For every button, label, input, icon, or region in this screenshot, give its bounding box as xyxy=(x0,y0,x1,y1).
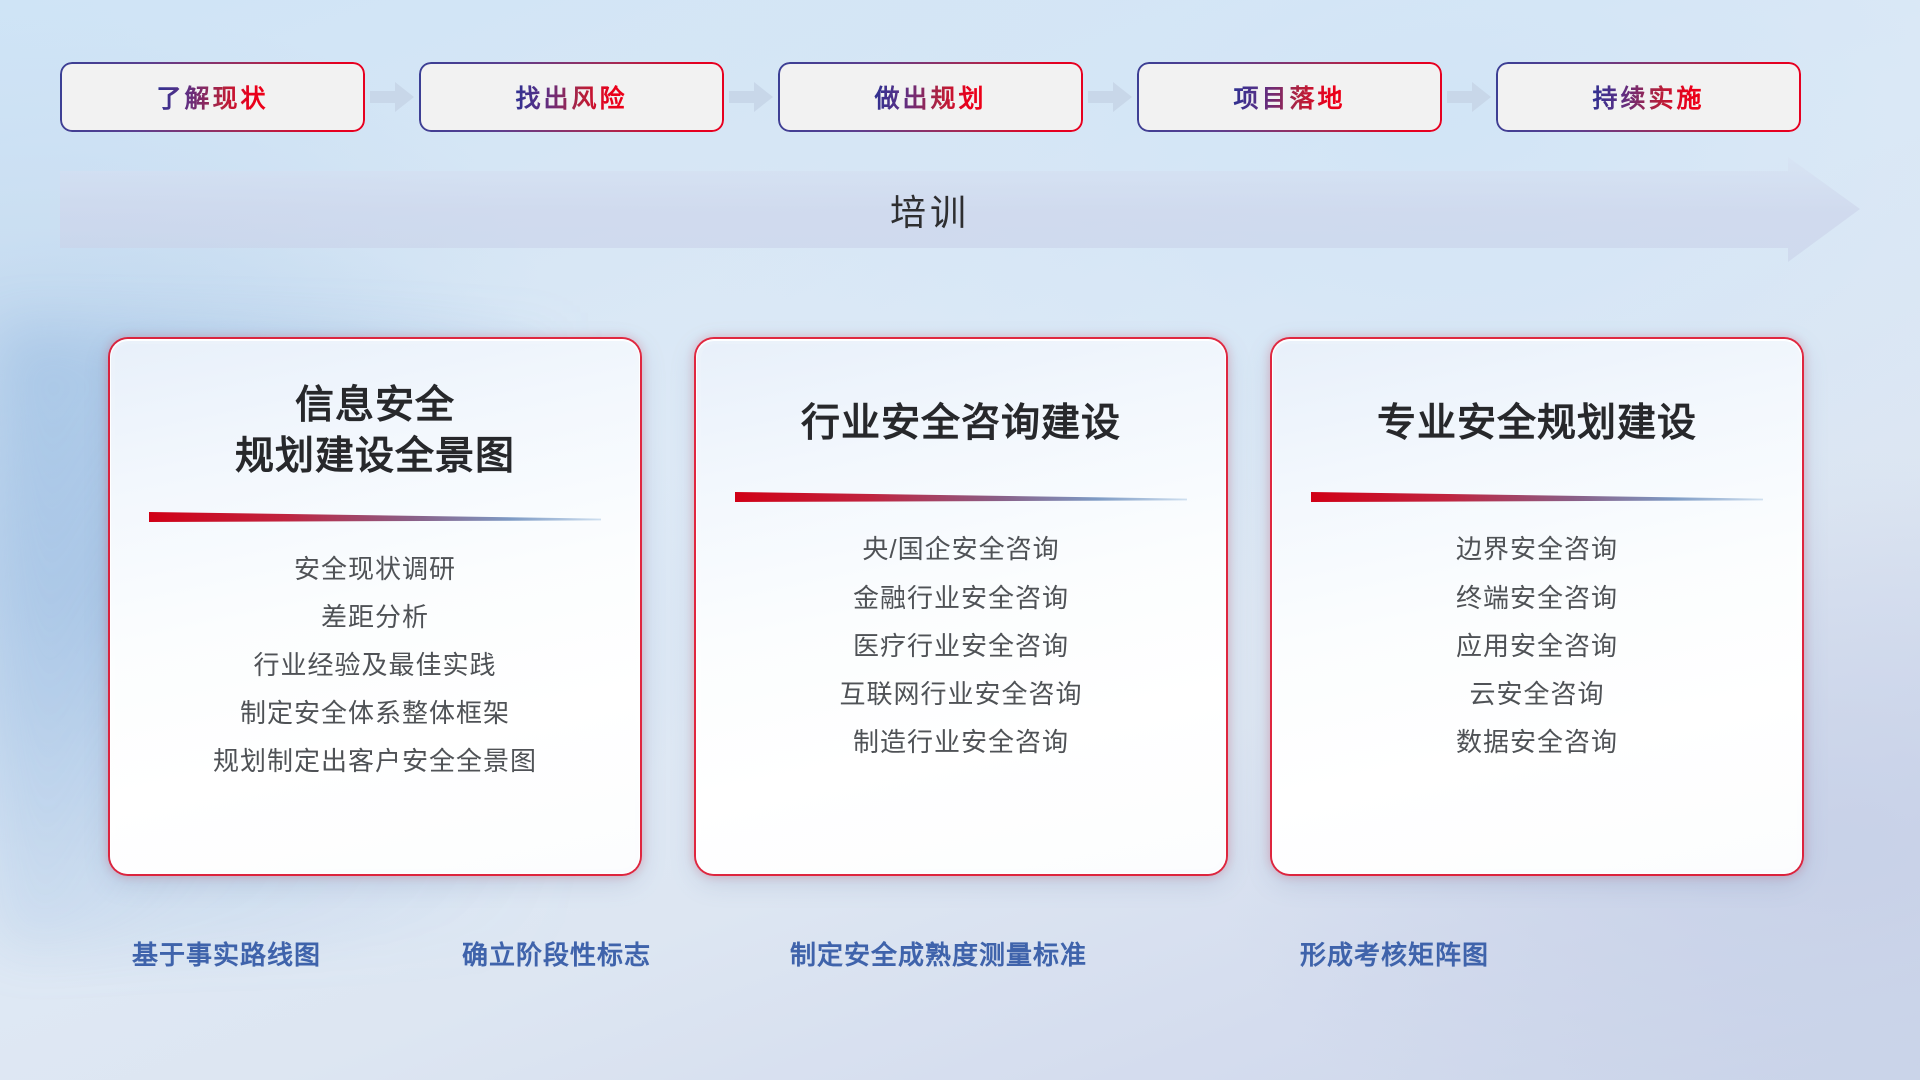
list-item: 数据安全咨询 xyxy=(1456,725,1618,760)
card-item-list: 安全现状调研 差距分析 行业经验及最佳实践 制定安全体系整体框架 规划制定出客户… xyxy=(213,552,537,779)
training-band-label: 培训 xyxy=(60,157,1860,262)
list-item: 制定安全体系整体框架 xyxy=(240,696,510,731)
card-title: 专业安全规划建设 xyxy=(1377,398,1697,449)
card-title: 信息安全 规划建设全景图 xyxy=(235,380,515,483)
tapered-divider-icon xyxy=(1311,489,1763,504)
step-box-1[interactable]: 了解现状 xyxy=(60,62,365,132)
step-label: 持续实施 xyxy=(1592,79,1704,115)
footnote-label: 基于事实路线图 xyxy=(132,935,321,972)
arrow-right-icon xyxy=(724,62,778,132)
list-item: 医疗行业安全咨询 xyxy=(853,629,1069,664)
step-label: 找出风险 xyxy=(515,79,627,115)
list-item: 云安全咨询 xyxy=(1469,677,1604,712)
list-item: 终端安全咨询 xyxy=(1456,581,1618,616)
step-box-5[interactable]: 持续实施 xyxy=(1496,62,1801,132)
card-item-list: 边界安全咨询 终端安全咨询 应用安全咨询 云安全咨询 数据安全咨询 xyxy=(1456,532,1618,759)
step-label: 做出规划 xyxy=(874,79,986,115)
slide-canvas: 了解现状 找出风险 做出规划 项目落地 xyxy=(0,0,1920,1080)
list-item: 应用安全咨询 xyxy=(1456,629,1618,664)
footnote-label: 形成考核矩阵图 xyxy=(1300,935,1489,972)
list-item: 规划制定出客户安全全景图 xyxy=(213,744,537,779)
list-item: 金融行业安全咨询 xyxy=(853,581,1069,616)
card-information-security-blueprint[interactable]: 信息安全 规划建设全景图 xyxy=(110,339,640,874)
list-item: 边界安全咨询 xyxy=(1456,532,1618,567)
list-item: 安全现状调研 xyxy=(294,552,456,587)
card-item-list: 央/国企安全咨询 金融行业安全咨询 医疗行业安全咨询 互联网行业安全咨询 制造行… xyxy=(839,532,1082,759)
card-professional-security-planning[interactable]: 专业安全规划建设 xyxy=(1272,339,1802,874)
footnote-label: 确立阶段性标志 xyxy=(462,935,651,972)
arrow-right-icon xyxy=(1083,62,1137,132)
list-item: 行业经验及最佳实践 xyxy=(253,648,496,683)
process-step-row: 了解现状 找出风险 做出规划 项目落地 xyxy=(60,62,1860,132)
step-box-2[interactable]: 找出风险 xyxy=(419,62,724,132)
arrow-right-icon xyxy=(1442,62,1496,132)
step-box-3[interactable]: 做出规划 xyxy=(778,62,1083,132)
footnote-row: 基于事实路线图 确立阶段性标志 制定安全成熟度测量标准 形成考核矩阵图 xyxy=(0,935,1920,995)
list-item: 制造行业安全咨询 xyxy=(853,725,1069,760)
footnote-label: 制定安全成熟度测量标准 xyxy=(790,935,1087,972)
step-label: 项目落地 xyxy=(1233,79,1345,115)
list-item: 差距分析 xyxy=(321,600,429,635)
training-band: 培训 xyxy=(60,157,1860,262)
list-item: 互联网行业安全咨询 xyxy=(839,677,1082,712)
card-industry-security-consulting[interactable]: 行业安全咨询建设 xyxy=(696,339,1226,874)
arrow-right-icon xyxy=(365,62,419,132)
tapered-divider-icon xyxy=(735,489,1187,504)
step-label: 了解现状 xyxy=(156,79,268,115)
step-box-4[interactable]: 项目落地 xyxy=(1137,62,1442,132)
card-title: 行业安全咨询建设 xyxy=(801,398,1121,449)
tapered-divider-icon xyxy=(149,509,601,524)
list-item: 央/国企安全咨询 xyxy=(862,532,1059,567)
card-row: 信息安全 规划建设全景图 xyxy=(0,331,1920,876)
